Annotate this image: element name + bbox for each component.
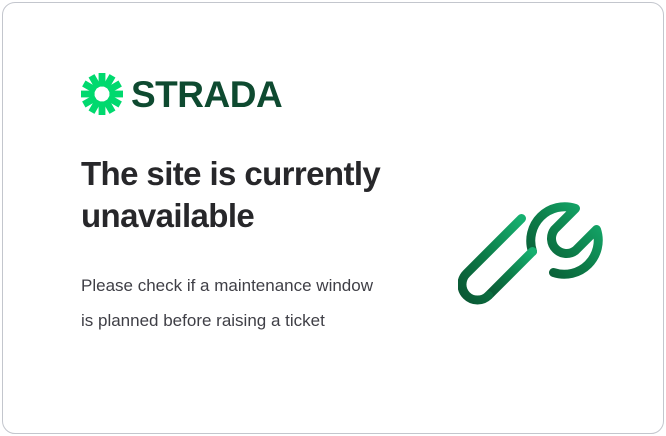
status-card: STRADA The site is currently unavailable… — [2, 2, 664, 434]
strada-asterisk-logomark — [81, 73, 123, 115]
content-column: STRADA The site is currently unavailable… — [81, 3, 461, 433]
wrench-icon — [458, 155, 614, 311]
brand-wordmark: STRADA — [131, 76, 282, 113]
page-description: Please check if a maintenance window is … — [81, 269, 381, 339]
error-page: STRADA The site is currently unavailable… — [0, 0, 666, 436]
brand-logo: STRADA — [81, 71, 282, 117]
page-title: The site is currently unavailable — [81, 153, 421, 237]
